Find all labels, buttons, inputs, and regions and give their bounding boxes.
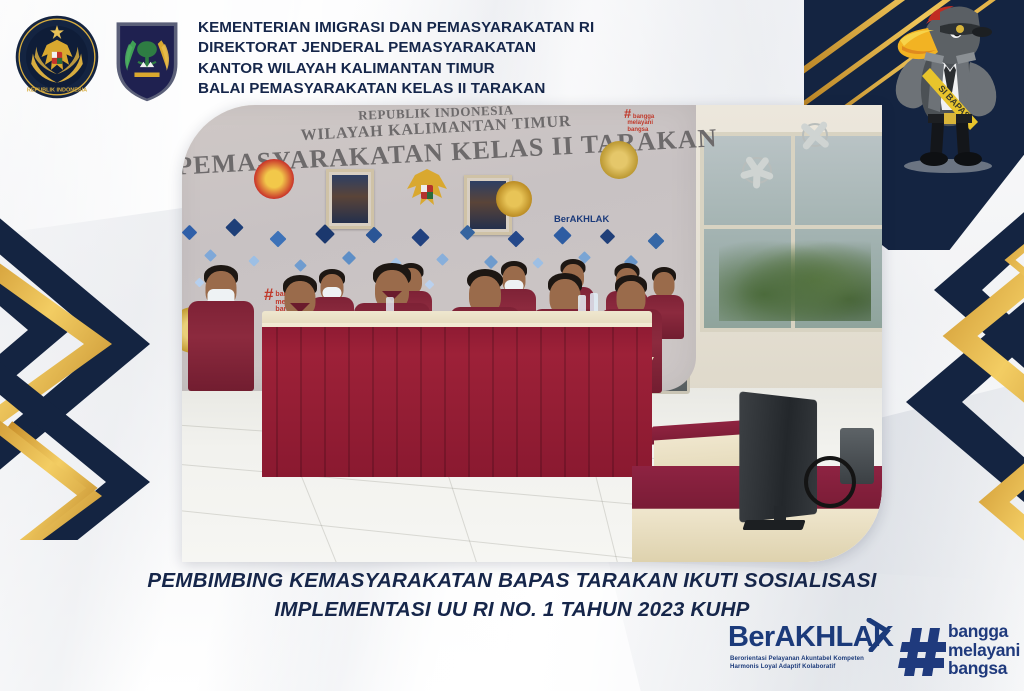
bangga-line-2: melayani	[948, 641, 1020, 660]
bangga-wordmark: bangga melayani bangsa	[948, 622, 1020, 678]
berakhlak-logo: BerAKHLAK Berorientasi Pelayanan Akuntab…	[728, 622, 903, 684]
chevron-group	[0, 210, 150, 540]
org-line-3: KANTOR WILAYAH KALIMANTAN TIMUR	[198, 59, 594, 79]
chevron-group	[906, 162, 1024, 570]
room-window	[700, 132, 882, 332]
wall-fan	[802, 123, 828, 147]
hash-icon	[898, 626, 950, 678]
tv-stand	[742, 520, 805, 530]
bangga-line-3: bangsa	[948, 659, 1020, 678]
banyan-tree-icon	[137, 41, 157, 67]
caption-line-1: PEMBIMBING KEMASYARAKATAN BAPAS TARAKAN …	[0, 566, 1024, 595]
caption-block: PEMBIMBING KEMASYARAKATAN BAPAS TARAKAN …	[0, 566, 1024, 624]
backdrop-logo-berakhlak: BerAKHLAK	[554, 213, 609, 224]
berakhlak-tagline: Berorientasi Pelayanan Akuntabel Kompete…	[730, 655, 900, 670]
coiled-cable	[804, 456, 856, 508]
television-monitor	[739, 391, 817, 523]
left-chevron-decoration	[0, 210, 200, 540]
org-line-1: KEMENTERIAN IMIGRASI DAN PEMASYARAKATAN …	[198, 18, 594, 38]
garuda-emblem-icon	[401, 167, 453, 211]
president-portrait	[326, 169, 374, 229]
wall-fan	[742, 157, 772, 184]
hornbill-mascot: SI BAPAS	[882, 2, 1018, 174]
backdrop-seal	[600, 141, 638, 179]
berakhlak-swoosh-icon	[865, 618, 891, 652]
seal-lower-text: REPUBLIK INDONESIA	[27, 87, 87, 93]
pengayoman-shield-logo	[110, 17, 184, 103]
bangga-line-1: bangga	[948, 622, 1020, 641]
window-foliage	[719, 232, 872, 320]
berakhlak-tagline-line-1: Berorientasi Pelayanan Akuntabel Kompete…	[730, 655, 900, 663]
table-skirt	[262, 327, 652, 477]
ministry-seal-logo: REPUBLIK INDONESIA	[14, 14, 100, 100]
org-line-2: DIREKTORAT JENDERAL PEMASYARAKATAN	[198, 38, 594, 58]
backdrop-logo-bangga: # bangga melayani bangsa	[624, 111, 654, 133]
berakhlak-tagline-line-2: Harmonis Loyal Adaptif Kolaboratif	[730, 663, 900, 671]
organization-title-block: KEMENTERIAN IMIGRASI DAN PEMASYARAKATAN …	[198, 18, 594, 100]
org-line-4: BALAI PEMASYARAKATAN KELAS II TARAKAN	[198, 79, 594, 99]
bangga-melayani-bangsa-logo: bangga melayani bangsa	[898, 620, 1016, 686]
press-conference-photo: REPUBLIK INDONESIA WILAYAH KALIMANTAN TI…	[182, 105, 882, 562]
poster-canvas: REPUBLIK INDONESIA KEMENTERIAN IMIGRASI …	[0, 0, 1024, 691]
header: REPUBLIK INDONESIA KEMENTERIAN IMIGRASI …	[0, 0, 1024, 112]
backdrop-seal	[254, 159, 294, 199]
seated-officer-front	[188, 267, 254, 379]
backdrop-seal	[496, 181, 532, 217]
